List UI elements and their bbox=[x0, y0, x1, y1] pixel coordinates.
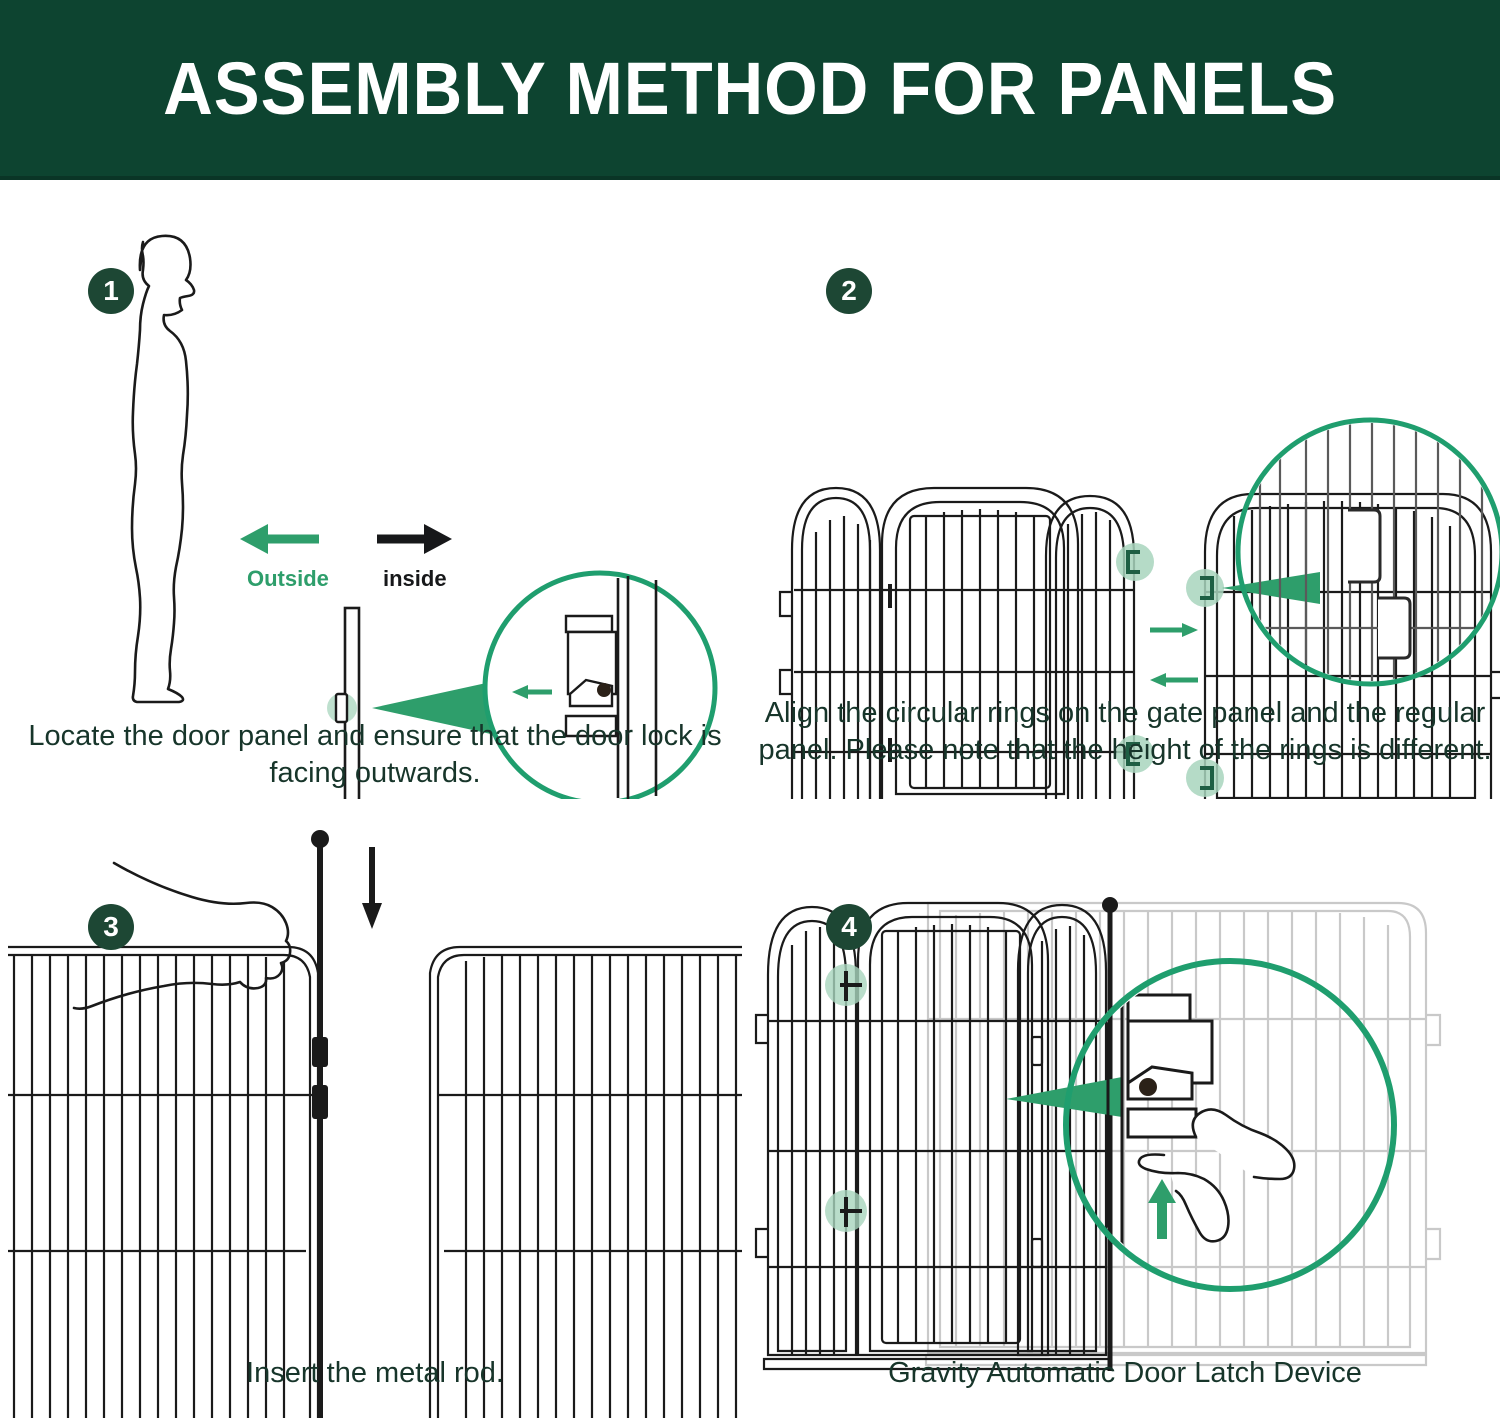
person-silhouette-icon bbox=[132, 236, 194, 702]
two-panels-group bbox=[8, 947, 742, 1418]
metal-rod bbox=[311, 830, 329, 1418]
step-1-caption: Locate the door panel and ensure that th… bbox=[0, 718, 750, 792]
step-1-badge: 1 bbox=[88, 268, 134, 314]
step-3-badge: 3 bbox=[88, 904, 134, 950]
step-4-badge: 4 bbox=[826, 904, 872, 950]
page-title: ASSEMBLY METHOD FOR PANELS bbox=[163, 46, 1337, 131]
step-4-cell bbox=[750, 799, 1500, 1418]
step-3-illustration bbox=[0, 799, 750, 1418]
step-3-cell bbox=[0, 799, 750, 1418]
steps-grid: Outside inside bbox=[0, 180, 1500, 1418]
header-banner: ASSEMBLY METHOD FOR PANELS bbox=[0, 0, 1500, 180]
step-3-caption: Insert the metal rod. bbox=[0, 1355, 750, 1392]
connecting-rod bbox=[1102, 897, 1118, 1371]
step-4-illustration bbox=[750, 799, 1500, 1418]
magnified-ring-detail bbox=[1238, 410, 1500, 700]
outside-label: Outside bbox=[247, 566, 329, 592]
magnified-latch-detail bbox=[1066, 959, 1394, 1299]
step-2-caption: Align the circular rings on the gate pan… bbox=[750, 695, 1500, 769]
align-arrows bbox=[926, 180, 1198, 687]
step-2-badge: 2 bbox=[826, 268, 872, 314]
foreground-gate-group bbox=[756, 903, 1110, 1369]
insert-down-arrow-icon bbox=[362, 847, 382, 929]
inside-arrow-icon bbox=[377, 524, 452, 554]
inside-label: inside bbox=[383, 566, 447, 592]
step-4-caption: Gravity Automatic Door Latch Device bbox=[750, 1355, 1500, 1392]
outside-arrow-icon bbox=[240, 524, 319, 554]
